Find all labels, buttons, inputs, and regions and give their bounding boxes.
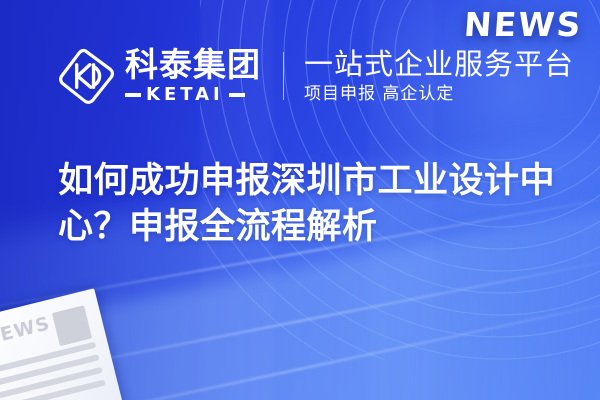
news-wordmark: NEWS	[462, 5, 583, 44]
logo-company-en-row: KETAI	[125, 86, 261, 104]
logo-company-en: KETAI	[146, 86, 224, 104]
headline-text: 如何成功申报深圳市工业设计中心？申报全流程解析	[58, 161, 555, 247]
tagline-block: 一站式企业服务平台 项目申报 高企认定	[304, 48, 574, 103]
logo-company-cn: 科泰集团	[125, 48, 261, 81]
tagline-sub: 项目申报 高企认定	[304, 85, 574, 104]
tagline-main: 一站式企业服务平台	[304, 48, 574, 80]
logo-dash-left	[125, 93, 141, 97]
headline: 如何成功申报深圳市工业设计中心？申报全流程解析	[58, 158, 568, 250]
news-banner: NEWS 科泰集团 KETAI	[0, 0, 600, 400]
brand-header: 科泰集团 KETAI 一站式企业服务平台 项目申报 高企认定	[57, 40, 574, 112]
ketai-monogram-icon	[57, 46, 117, 106]
logo-dash-right	[229, 93, 245, 97]
header-divider	[283, 52, 284, 100]
logo-wordmark: 科泰集团 KETAI	[125, 48, 261, 104]
